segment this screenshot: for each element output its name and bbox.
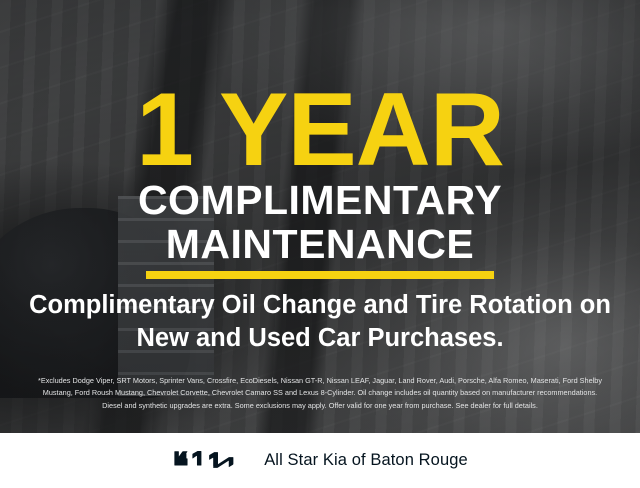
dealer-footer: All Star Kia of Baton Rouge bbox=[0, 433, 640, 488]
hero-banner: 1 YEAR COMPLIMENTARY MAINTENANCE Complim… bbox=[0, 0, 640, 433]
disclaimer-line-1: *Excludes Dodge Viper, SRT Motors, Sprin… bbox=[14, 375, 626, 387]
disclaimer-line-2: Mustang, Ford Roush Mustang, Chevrolet C… bbox=[14, 387, 626, 399]
headline-year: 1 YEAR bbox=[0, 78, 640, 182]
hero-content: 1 YEAR COMPLIMENTARY MAINTENANCE Complim… bbox=[0, 0, 640, 433]
kia-logo bbox=[172, 451, 246, 471]
headline-maintenance: MAINTENANCE bbox=[0, 224, 640, 265]
disclaimer-line-3: Diesel and synthetic upgrades are extra.… bbox=[14, 400, 626, 412]
disclaimer-text: *Excludes Dodge Viper, SRT Motors, Sprin… bbox=[0, 375, 640, 412]
offer-tagline: Complimentary Oil Change and Tire Rotati… bbox=[0, 289, 640, 354]
dealer-name: All Star Kia of Baton Rouge bbox=[264, 451, 468, 470]
yellow-divider-rule bbox=[146, 271, 494, 279]
headline-complimentary: COMPLIMENTARY bbox=[0, 180, 640, 221]
promotional-ad: 1 YEAR COMPLIMENTARY MAINTENANCE Complim… bbox=[0, 0, 640, 488]
